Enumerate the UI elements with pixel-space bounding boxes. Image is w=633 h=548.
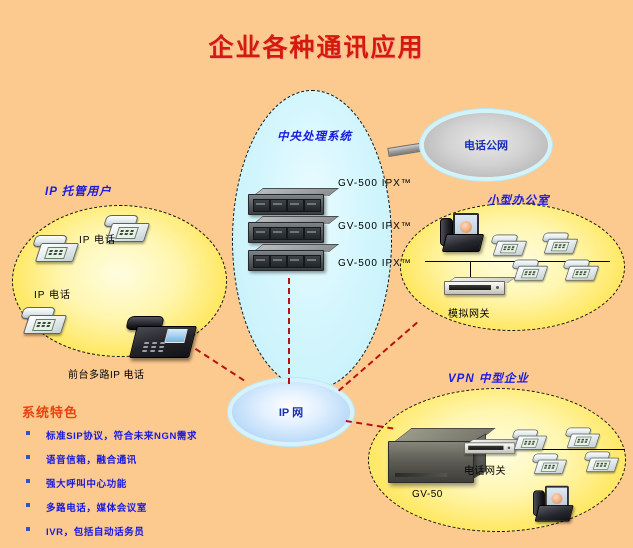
system-features-panel: 系统特色 标准SIP协议，符合未来NGN需求 语音信箱，融合通讯 强大呼叫中心功…	[22, 402, 237, 548]
ip-network-cloud: IP 网	[232, 382, 350, 442]
diagram-canvas: 企业各种通讯应用 电话公网 IP 网 IP 托管用户 中央处理系统 小型办公室 …	[0, 0, 633, 541]
front-desk-phone-label: 前台多路IP 电话	[68, 366, 145, 381]
ip-phone-label-1: IP 电话	[79, 231, 116, 246]
zone-label-central: 中央处理系统	[277, 128, 352, 144]
pstn-cloud: 电话公网	[424, 113, 548, 177]
ip-phone-lower	[22, 305, 66, 335]
vpn-phone-3	[533, 452, 566, 475]
ip-phone-middle	[34, 233, 78, 263]
feature-item: IVR，包括自动话务员	[22, 524, 237, 538]
video-phone-vpn	[533, 483, 572, 523]
video-phone-small-office	[440, 210, 482, 254]
server-gv500-1	[248, 188, 332, 214]
office-phone-2	[543, 231, 577, 254]
vpn-phone-2	[566, 426, 599, 449]
server-label-2: GV-500 IPX™	[338, 221, 412, 232]
vpn-phone-1	[513, 428, 546, 451]
telephone-gateway-device	[464, 439, 519, 454]
server-label-1: GV-500 IPX™	[338, 178, 412, 189]
office-phone-1	[492, 233, 526, 256]
server-label-3: GV-500 IPX™	[338, 258, 412, 269]
ip-network-label: IP 网	[279, 404, 303, 420]
feature-item: 强大呼叫中心功能	[22, 476, 237, 490]
zone-label-ip-hosted: IP 托管用户	[45, 183, 112, 199]
features-list: 标准SIP协议，符合未来NGN需求 语音信箱，融合通讯 强大呼叫中心功能 多路电…	[22, 428, 237, 538]
link-central-to-ipnet	[288, 278, 290, 384]
link-frontdesk-to-ipnet	[195, 348, 245, 381]
front-desk-ip-phone	[127, 312, 195, 360]
office-phone-4	[564, 258, 598, 281]
telephone-gateway-label: 电话网关	[464, 462, 506, 477]
features-heading: 系统特色	[22, 402, 237, 421]
feature-item: 多路电话，媒体会议室	[22, 500, 237, 514]
zone-label-small-office: 小型办公室	[487, 192, 550, 208]
small-office-drop-wire	[470, 261, 471, 277]
feature-item: 标准SIP协议，符合未来NGN需求	[22, 428, 237, 442]
zone-label-vpn: VPN 中型企业	[448, 370, 529, 386]
feature-item: 语音信箱，融合通讯	[22, 452, 237, 466]
ip-phone-label-2: IP 电话	[34, 286, 71, 301]
office-phone-3	[513, 258, 547, 281]
gv50-label: GV-50	[412, 489, 443, 500]
gv50-chassis	[388, 428, 484, 486]
pstn-cloud-label: 电话公网	[464, 137, 508, 153]
page-title: 企业各种通讯应用	[0, 28, 633, 64]
analog-gateway-device	[444, 277, 510, 295]
vpn-phone-4	[585, 450, 618, 473]
analog-gateway-label: 模拟网关	[448, 305, 490, 320]
server-gv500-2	[248, 216, 332, 242]
server-gv500-3	[248, 244, 332, 270]
